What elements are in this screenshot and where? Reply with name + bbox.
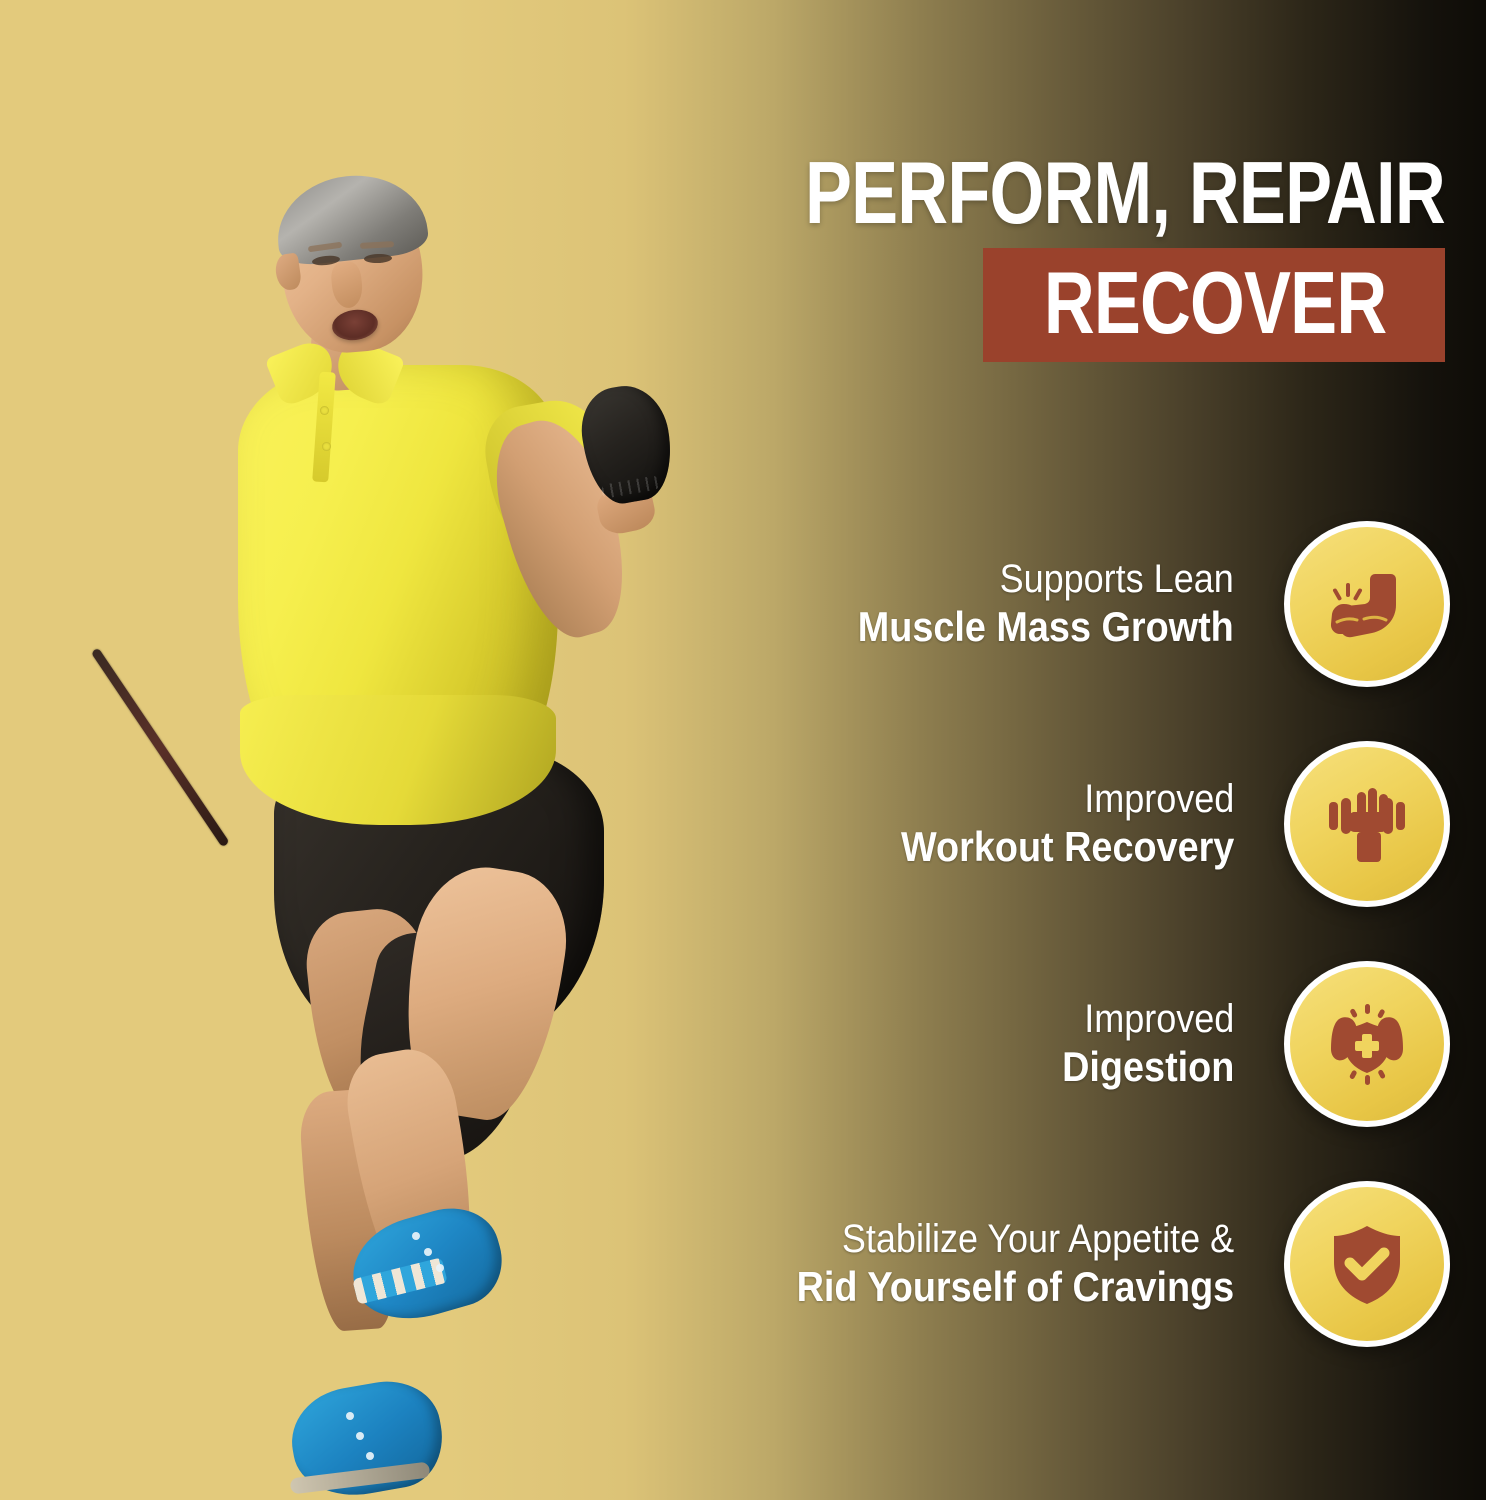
benefit-line-2: Rid Yourself of Cravings [796, 1263, 1234, 1311]
polo-button [320, 406, 329, 415]
flexed-bicep-icon [1319, 556, 1415, 652]
benefit-line-1: Improved [901, 777, 1234, 823]
benefit-icon-badge [1284, 961, 1450, 1127]
benefit-line-2: Digestion [1062, 1043, 1234, 1091]
benefit-text: Stabilize Your Appetite & Rid Yourself o… [748, 1217, 1234, 1310]
benefit-icon-badge [1284, 741, 1450, 907]
shield-check-icon [1319, 1216, 1415, 1312]
gray-hair [272, 168, 430, 267]
shoe-lace-dot [356, 1432, 364, 1440]
polo-button [322, 442, 331, 451]
golf-club-shaft-icon [91, 647, 230, 847]
running-man-photo [60, 150, 740, 1400]
shoe-lace-dot [412, 1232, 420, 1240]
benefit-item-muscle-mass: Supports Lean Muscle Mass Growth [730, 516, 1450, 692]
benefit-item-appetite: Stabilize Your Appetite & Rid Yourself o… [730, 1176, 1450, 1352]
fist-dumbbell-icon [1319, 776, 1415, 872]
benefit-item-digestion: Improved Digestion [730, 956, 1450, 1132]
benefit-line-2: Muscle Mass Growth [858, 603, 1234, 651]
benefit-text: Supports Lean Muscle Mass Growth [816, 557, 1234, 650]
headline: PERFORM, REPAIR RECOVER [645, 148, 1445, 362]
headline-line-1: PERFORM, REPAIR [805, 148, 1445, 238]
benefit-text: Improved Digestion [1043, 997, 1234, 1090]
shoe-lace-dot [366, 1452, 374, 1460]
shield-medical-muscles-icon [1319, 996, 1415, 1092]
benefit-icon-badge [1284, 1181, 1450, 1347]
shoe-lace-dot [346, 1412, 354, 1420]
benefits-list: Supports Lean Muscle Mass Growth [730, 516, 1450, 1352]
benefit-text: Improved Workout Recovery [864, 777, 1234, 870]
headline-highlight-box: RECOVER [983, 248, 1445, 362]
benefit-icon-badge [1284, 521, 1450, 687]
ear [274, 253, 303, 292]
shoe-lace-dot [436, 1264, 444, 1272]
shoe-lace-dot [424, 1248, 432, 1256]
benefit-item-workout-recovery: Improved Workout Recovery [730, 736, 1450, 912]
benefit-line-1: Supports Lean [858, 557, 1234, 603]
headline-line-2: RECOVER [1044, 258, 1387, 348]
benefit-line-1: Stabilize Your Appetite & [796, 1217, 1234, 1263]
benefit-line-1: Improved [1062, 997, 1234, 1043]
benefit-line-2: Workout Recovery [901, 823, 1234, 871]
promo-poster: PERFORM, REPAIR RECOVER Supports Lean Mu… [0, 0, 1486, 1500]
